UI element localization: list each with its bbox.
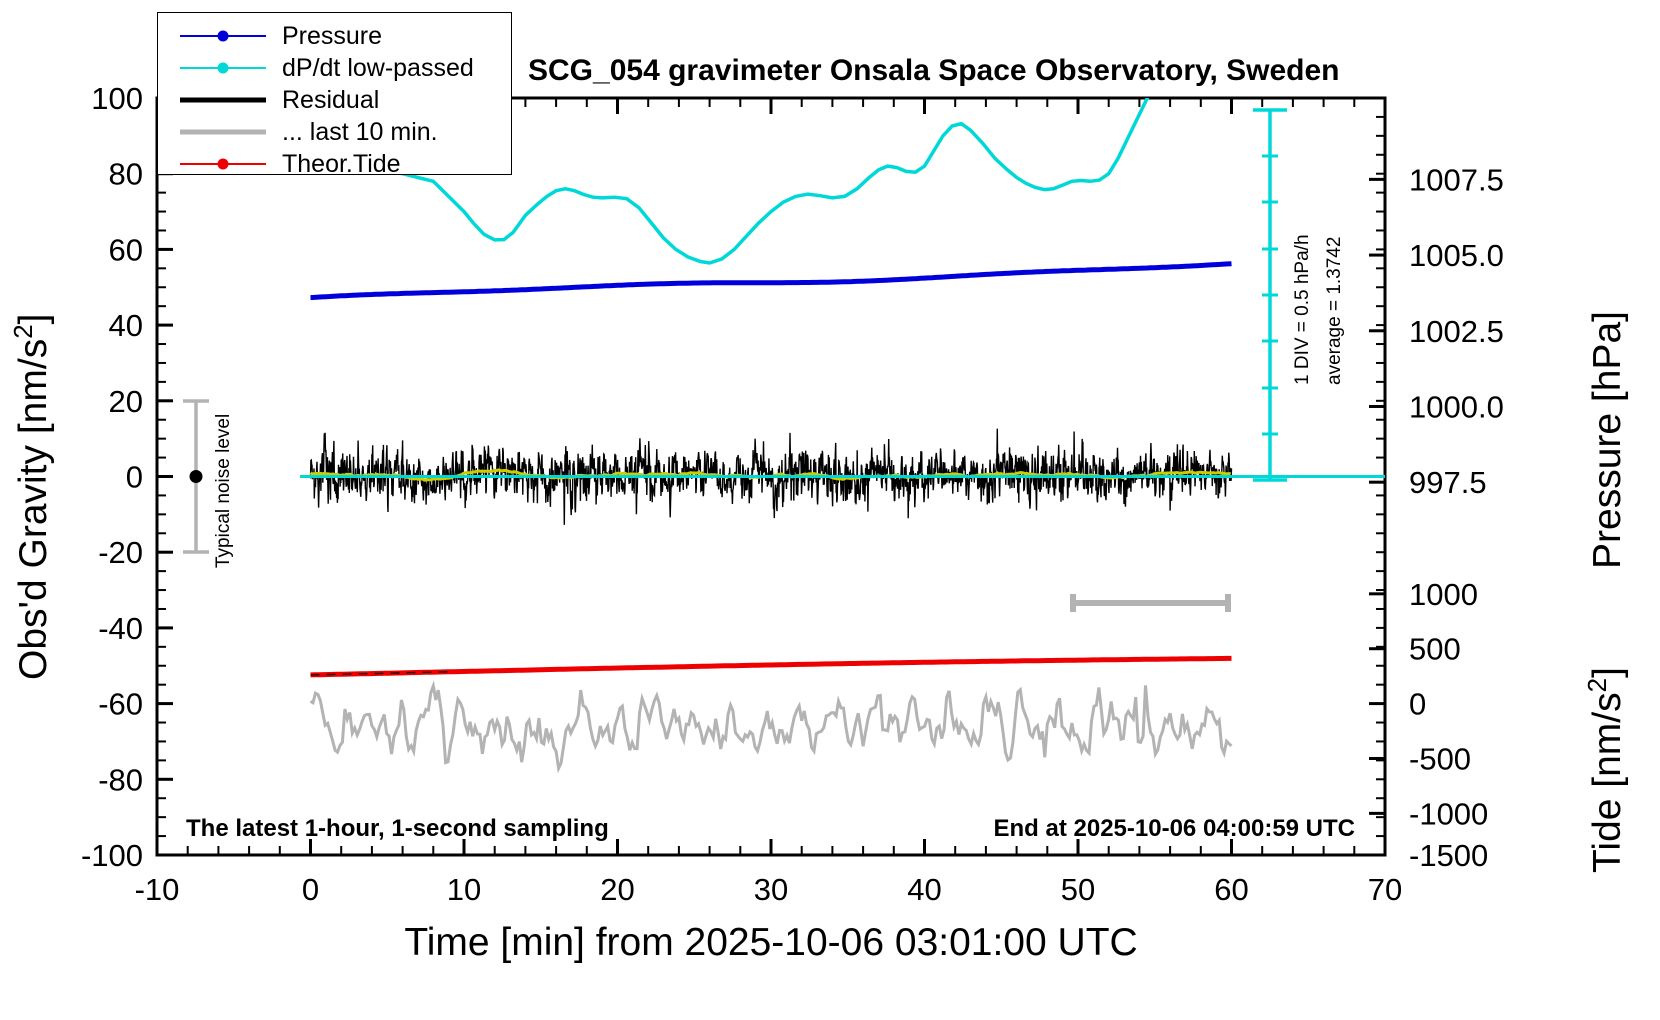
legend-line-icon (180, 130, 266, 135)
y-tick-label: 80 (109, 157, 143, 192)
x-tick-label: 70 (1368, 872, 1402, 907)
right-tick-label: 1000.0 (1409, 389, 1504, 424)
scale-average-label: average = 1.3742 (1324, 237, 1345, 385)
y-tick-label: -60 (98, 687, 143, 722)
right-tick-label: -1000 (1409, 796, 1488, 831)
scale-div-label: 1 DIV = 0.5 hPa/h (1292, 234, 1313, 385)
y-axis-label: Obs'd Gravity [nm/s2] (8, 313, 55, 680)
bottom-left-annotation: The latest 1-hour, 1-second sampling (186, 815, 609, 842)
legend: PressuredP/dt low-passedResidual... last… (157, 12, 512, 175)
y-tick-label: -100 (81, 838, 143, 873)
gravimeter-plot-figure: -10010203040506070 -100-80-60-40-2002040… (0, 0, 1660, 1020)
legend-line-icon (180, 98, 266, 103)
y-tick-label: -20 (98, 535, 143, 570)
y-tick-label: 40 (109, 308, 143, 343)
legend-item[interactable]: dP/dt low-passed (158, 53, 511, 83)
x-tick-label: 60 (1214, 872, 1248, 907)
x-tick-label: 30 (754, 872, 788, 907)
y-tick-label: 20 (109, 384, 143, 419)
right-tick-label: -500 (1409, 741, 1471, 776)
x-axis-label: Time [min] from 2025-10-06 03:01:00 UTC (404, 921, 1137, 964)
typical-noise-level-label: Typical noise level (213, 414, 234, 568)
legend-swatch-icon (180, 149, 266, 179)
right-axis-label-pressure: Pressure [hPa] (1586, 311, 1629, 569)
legend-item[interactable]: Theor.Tide (158, 149, 511, 179)
x-tick-label: 0 (302, 872, 319, 907)
right-tick-label: 1007.5 (1409, 162, 1504, 197)
y-tick-label: -80 (98, 762, 143, 797)
y-tick-label: -40 (98, 611, 143, 646)
legend-swatch-icon (180, 117, 266, 147)
legend-marker-icon (218, 31, 229, 42)
bottom-right-annotation: End at 2025-10-06 04:00:59 UTC (994, 815, 1356, 842)
right-tick-label: 1002.5 (1409, 314, 1504, 349)
legend-item-label: dP/dt low-passed (282, 54, 474, 83)
x-tick-label: 50 (1061, 872, 1095, 907)
right-tick-label: -1500 (1409, 838, 1488, 873)
right-tick-label: 0 (1409, 687, 1426, 722)
y-tick-label: 100 (91, 81, 143, 116)
legend-item[interactable]: ... last 10 min. (158, 117, 511, 147)
y-tick-label: 0 (126, 460, 143, 495)
legend-item-label: Residual (282, 86, 379, 115)
legend-marker-icon (218, 63, 229, 74)
legend-swatch-icon (180, 85, 266, 115)
x-tick-label: 20 (600, 872, 634, 907)
plot-title: SCG_054 gravimeter Onsala Space Observat… (528, 54, 1340, 87)
right-axis-label-tide-sup: 2 (1582, 678, 1612, 692)
x-tick-label: 10 (447, 872, 481, 907)
y-axis-label-tail: ] (12, 313, 55, 324)
legend-swatch-icon (180, 21, 266, 51)
right-axis-label-tide-main: Tide [nm/s (1586, 692, 1629, 873)
legend-item[interactable]: Pressure (158, 21, 511, 51)
legend-swatch-icon (180, 53, 266, 83)
svg-text:Obs'd Gravity [nm/s2]: Obs'd Gravity [nm/s2] (8, 313, 55, 680)
right-tick-label: 500 (1409, 632, 1461, 667)
legend-item[interactable]: Residual (158, 85, 511, 115)
x-tick-label: -10 (135, 872, 180, 907)
right-tick-label: 997.5 (1409, 465, 1487, 500)
right-axis-label-tide-tail: ] (1586, 667, 1629, 678)
right-tick-label: 1005.0 (1409, 238, 1504, 273)
right-tick-label: 1000 (1409, 577, 1478, 612)
y-tick-label: 60 (109, 232, 143, 267)
legend-item-label: Theor.Tide (282, 150, 401, 179)
legend-item-label: Pressure (282, 22, 382, 51)
y-axis-label-main: Obs'd Gravity [nm/s (12, 339, 55, 680)
legend-marker-icon (218, 159, 229, 170)
legend-item-label: ... last 10 min. (282, 118, 438, 147)
x-tick-label: 40 (907, 872, 941, 907)
typical-noise-level-dot (190, 470, 203, 483)
right-axis-label-tide: Tide [nm/s2] (1582, 667, 1629, 873)
y-axis-label-sup: 2 (8, 324, 38, 338)
